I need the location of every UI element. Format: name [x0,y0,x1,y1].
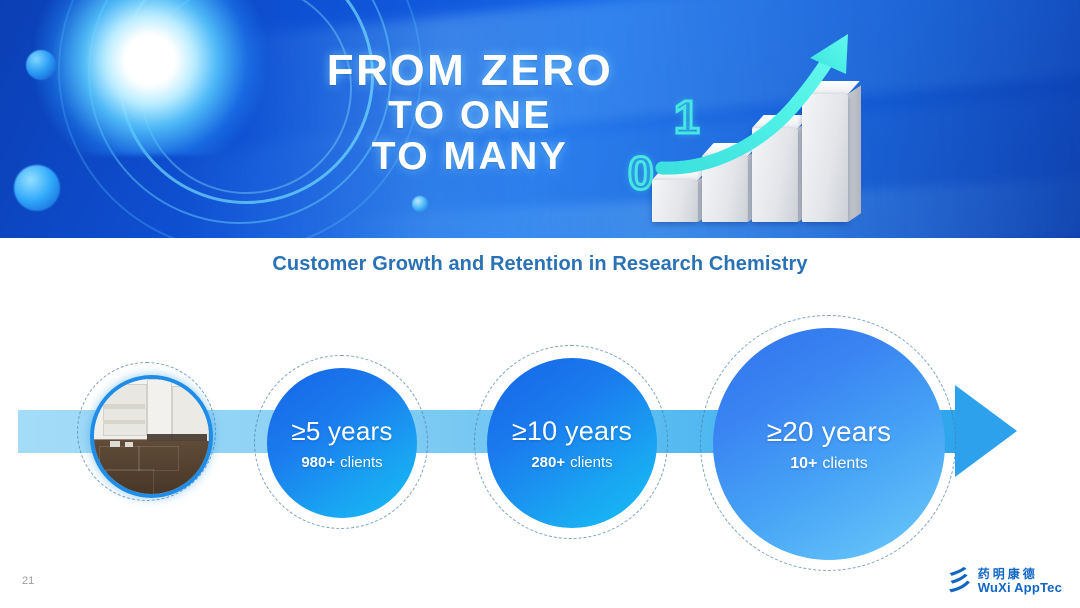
logo-mark-icon: 彡 [946,568,972,595]
stat-count: 280+ [531,454,565,471]
headline-line-3: TO MANY [300,136,640,177]
logo-english-name: WuXi AppTec [978,581,1062,595]
lab-photo-circle [90,375,213,498]
stat-unit: clients [340,454,383,471]
slide: FROM ZERO TO ONE TO MANY 0 1 [0,0,1080,608]
stat-unit: clients [822,455,867,472]
headline-line-1: FROM ZERO [300,48,640,95]
logo-wordmark: 药明康德 WuXi AppTec [978,568,1062,594]
stat-clients-label: 10+clients [790,455,868,473]
stat-count: 980+ [301,454,335,471]
page-title: Customer Growth and Retention in Researc… [0,253,1080,276]
growth-chart-graphic: 0 1 [640,22,880,222]
stat-years-label: ≥5 years [291,416,392,447]
headline-line-2: TO ONE [300,95,640,136]
light-burst-glow [35,0,265,155]
flow-arrow-icon [955,385,1017,477]
stat-clients-label: 980+clients [301,454,382,471]
stat-clients-label: 280+clients [531,454,612,471]
stat-node-10-years[interactable]: ≥10 years 280+clients [487,358,657,528]
stat-count: 10+ [790,455,817,472]
bubble-icon-2 [14,165,60,211]
stat-node-5-years[interactable]: ≥5 years 980+clients [267,368,417,518]
hero-banner: FROM ZERO TO ONE TO MANY 0 1 [0,0,1080,238]
wuxi-apptec-logo: 彡 药明康德 WuXi AppTec [946,568,1062,595]
stat-node-20-years[interactable]: ≥20 years 10+clients [713,328,945,560]
stat-years-label: ≥20 years [767,416,892,448]
banner-headline: FROM ZERO TO ONE TO MANY [300,48,640,177]
stat-unit: clients [570,454,613,471]
retention-flow-diagram: ≥5 years 980+clients ≥10 years 280+clien… [0,300,1080,560]
growth-arrow-icon [640,22,880,222]
bubble-icon-1 [26,50,56,80]
stat-years-label: ≥10 years [512,416,632,447]
page-number: 21 [22,575,34,587]
bubble-icon-3 [412,196,428,212]
lab-photo-image [94,379,209,494]
